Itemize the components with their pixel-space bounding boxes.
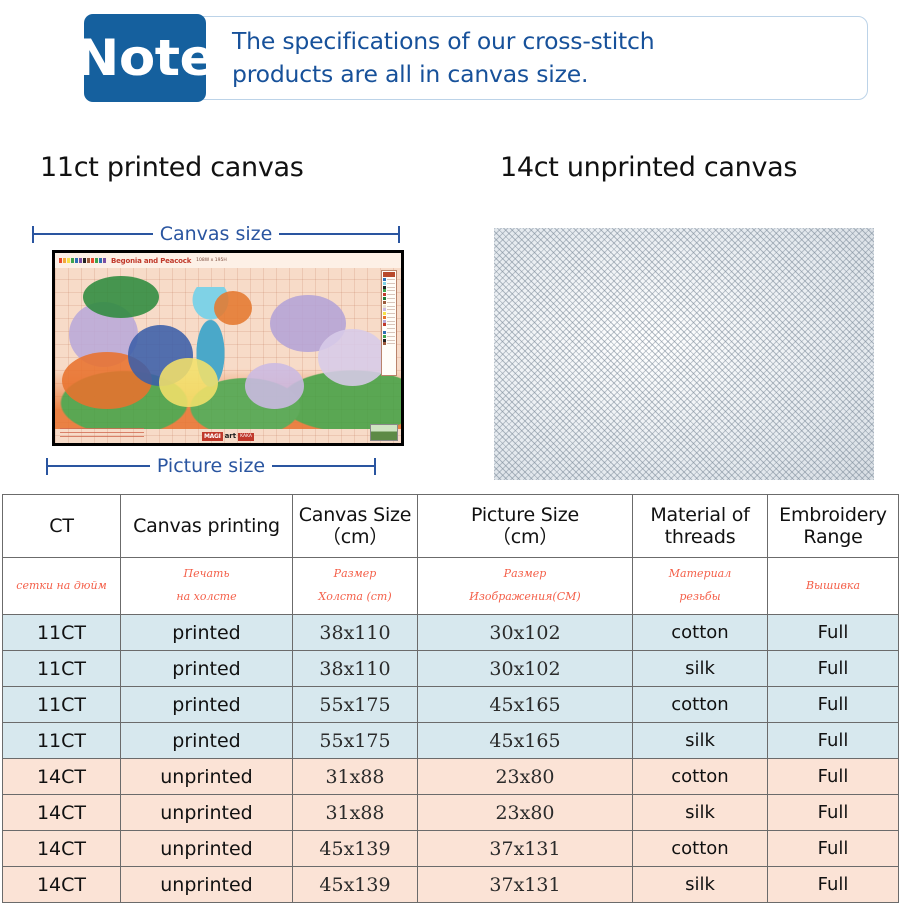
- legend-row: [383, 301, 395, 304]
- chart-color-swatch-row: [59, 258, 106, 263]
- legend-row: [383, 289, 395, 292]
- cell-canvas-printing: printed: [121, 687, 293, 723]
- legend-row: [383, 339, 395, 342]
- table-row: 11CTprinted38x11030x102cottonFull: [3, 615, 899, 651]
- cell-material: cotton: [633, 687, 768, 723]
- table-row: 14CTunprinted31x8823x80silkFull: [3, 795, 899, 831]
- column-subheader-ct-ru: сетки на дюйм: [3, 558, 121, 615]
- note-badge: Note: [84, 14, 206, 102]
- legend-row: [383, 297, 395, 300]
- ru-line-2: резьбы: [633, 586, 767, 609]
- legend-row: [383, 323, 395, 326]
- cell-picture-size: 30x102: [418, 615, 633, 651]
- header-line-1: Canvas Size: [293, 504, 417, 526]
- cell-canvas-printing: printed: [121, 651, 293, 687]
- cell-canvas-size: 38x110: [293, 615, 418, 651]
- bracket-cap-right: [398, 226, 400, 243]
- cell-material: cotton: [633, 759, 768, 795]
- cell-canvas-printing: unprinted: [121, 831, 293, 867]
- cell-ct: 14CT: [3, 759, 121, 795]
- cell-material: cotton: [633, 615, 768, 651]
- cell-canvas-size: 31x88: [293, 795, 418, 831]
- legend-header: [383, 272, 395, 277]
- cell-canvas-size: 45x139: [293, 867, 418, 903]
- header-line-1: CT: [3, 515, 120, 537]
- printed-canvas-chart-image: Begonia and Peacock 108W x 195H: [52, 250, 404, 446]
- table-row: 14CTunprinted31x8823x80cottonFull: [3, 759, 899, 795]
- header-line-2: （cm）: [418, 526, 632, 548]
- legend-row: [383, 342, 395, 345]
- column-header-embroidery-range: Embroidery Range: [768, 495, 899, 558]
- cell-ct: 11CT: [3, 687, 121, 723]
- picture-size-label: Picture size: [150, 457, 272, 476]
- cell-embroidery-range: Full: [768, 615, 899, 651]
- cell-material: silk: [633, 795, 768, 831]
- cell-ct: 11CT: [3, 723, 121, 759]
- legend-row: [383, 304, 395, 307]
- section-title-printed: 11ct printed canvas: [40, 152, 304, 183]
- cell-picture-size: 23x80: [418, 795, 633, 831]
- ru-line-1: Размер: [293, 563, 417, 586]
- ru-line-1: Размер: [418, 563, 632, 586]
- table-row: 14CTunprinted45x13937x131silkFull: [3, 867, 899, 903]
- column-header-material-of-threads: Material of threads: [633, 495, 768, 558]
- cell-canvas-printing: unprinted: [121, 795, 293, 831]
- legend-row: [383, 278, 395, 281]
- cell-embroidery-range: Full: [768, 795, 899, 831]
- column-subheader-canvas-printing-ru: Печать на холсте: [121, 558, 293, 615]
- printed-canvas-panel: Canvas size Begonia and Peacock 108W x 1…: [24, 222, 436, 480]
- cell-canvas-size: 55x175: [293, 687, 418, 723]
- header-line-1: Material of: [633, 504, 767, 526]
- chart-title: Begonia and Peacock: [111, 257, 191, 265]
- table-row: 14CTunprinted45x13937x131cottonFull: [3, 831, 899, 867]
- bracket-rule-left: [34, 233, 153, 235]
- cell-material: cotton: [633, 831, 768, 867]
- ru-line-2: Холста (cm): [293, 586, 417, 609]
- cell-canvas-printing: unprinted: [121, 759, 293, 795]
- bracket-rule-left: [48, 465, 150, 467]
- bracket-rule-right: [272, 465, 374, 467]
- ru-line-1: Печать: [121, 563, 292, 586]
- note-banner: Note The specifications of our cross-sti…: [84, 14, 868, 102]
- chart-color-legend: [381, 270, 397, 376]
- legend-row: [383, 282, 395, 285]
- cell-canvas-size: 55x175: [293, 723, 418, 759]
- table-row: 11CTprinted55x17545x165cottonFull: [3, 687, 899, 723]
- column-header-canvas-size: Canvas Size （cm）: [293, 495, 418, 558]
- legend-row: [383, 293, 395, 296]
- table-header-row-russian: сетки на дюйм Печать на холсте Размер Хо…: [3, 558, 899, 615]
- cell-ct: 14CT: [3, 831, 121, 867]
- header-line-1: Canvas printing: [121, 515, 292, 537]
- note-badge-label: Note: [75, 33, 215, 83]
- cell-embroidery-range: Full: [768, 651, 899, 687]
- table-header-row-english: CT Canvas printing Canvas Size （cm） Pict…: [3, 495, 899, 558]
- column-header-picture-size: Picture Size （cm）: [418, 495, 633, 558]
- cell-ct: 11CT: [3, 651, 121, 687]
- cell-embroidery-range: Full: [768, 759, 899, 795]
- chart-artwork-blob: [159, 358, 218, 407]
- cell-picture-size: 23x80: [418, 759, 633, 795]
- header-line-2: threads: [633, 526, 767, 548]
- legend-row: [383, 308, 395, 311]
- cell-material: silk: [633, 723, 768, 759]
- ru-line-2: Изображения(CM): [418, 586, 632, 609]
- ru-line-1: Материал: [633, 563, 767, 586]
- brand-sub: KAKA: [238, 433, 254, 441]
- picture-size-dimension-bracket: Picture size: [46, 454, 376, 478]
- ru-line-1: Вышивка: [768, 575, 898, 598]
- cell-canvas-printing: printed: [121, 615, 293, 651]
- cell-picture-size: 37x131: [418, 831, 633, 867]
- chart-artwork-blob: [83, 276, 159, 318]
- cell-embroidery-range: Full: [768, 831, 899, 867]
- cell-canvas-size: 38x110: [293, 651, 418, 687]
- unprinted-canvas-swatch-image: [494, 228, 874, 480]
- note-text: The specifications of our cross-stitch p…: [232, 20, 846, 96]
- legend-row: [383, 331, 395, 334]
- chart-dimensions-label: 108W x 195H: [196, 258, 227, 263]
- cell-material: silk: [633, 867, 768, 903]
- header-line-2: （cm）: [293, 526, 417, 548]
- legend-row: [383, 312, 395, 315]
- legend-row: [383, 286, 395, 289]
- note-text-line-2: products are all in canvas size.: [232, 58, 846, 91]
- cell-picture-size: 37x131: [418, 867, 633, 903]
- chart-brand-logo: MAGI art KAKA: [202, 432, 254, 441]
- cell-embroidery-range: Full: [768, 867, 899, 903]
- specification-table: CT Canvas printing Canvas Size （cm） Pict…: [2, 494, 899, 903]
- note-text-line-1: The specifications of our cross-stitch: [232, 25, 846, 58]
- column-subheader-material-ru: Материал резьбы: [633, 558, 768, 615]
- cell-canvas-size: 31x88: [293, 759, 418, 795]
- header-line-2: Range: [768, 526, 898, 548]
- bracket-rule-right: [279, 233, 398, 235]
- chart-preview-thumbnail: [370, 424, 398, 441]
- canvas-size-label: Canvas size: [153, 225, 280, 244]
- table-row: 11CTprinted55x17545x165silkFull: [3, 723, 899, 759]
- column-subheader-embroidery-ru: Вышивка: [768, 558, 899, 615]
- brand-mark: MAGI: [202, 432, 223, 441]
- specification-table-body: 11CTprinted38x11030x102cottonFull11CTpri…: [3, 615, 899, 903]
- cell-picture-size: 45x165: [418, 723, 633, 759]
- cell-material: silk: [633, 651, 768, 687]
- column-subheader-picture-size-ru: Размер Изображения(CM): [418, 558, 633, 615]
- ru-line-2: на холсте: [121, 586, 292, 609]
- chart-header-strip: Begonia and Peacock 108W x 195H: [55, 253, 401, 268]
- legend-row: [383, 335, 395, 338]
- bracket-cap-right: [374, 458, 376, 475]
- header-line-1: Embroidery: [768, 504, 898, 526]
- chart-artwork-blob: [245, 363, 304, 409]
- legend-row: [383, 320, 395, 323]
- brand-word: art: [225, 432, 237, 441]
- cell-ct: 11CT: [3, 615, 121, 651]
- column-header-ct: CT: [3, 495, 121, 558]
- header-line-1: Picture Size: [418, 504, 632, 526]
- table-row: 11CTprinted38x11030x102silkFull: [3, 651, 899, 687]
- canvas-size-dimension-bracket: Canvas size: [32, 222, 400, 246]
- chart-footnote-text: [60, 428, 144, 440]
- chart-artwork-blob: [318, 329, 387, 386]
- cell-embroidery-range: Full: [768, 687, 899, 723]
- column-subheader-canvas-size-ru: Размер Холста (cm): [293, 558, 418, 615]
- cell-embroidery-range: Full: [768, 723, 899, 759]
- cell-canvas-printing: unprinted: [121, 867, 293, 903]
- section-title-unprinted: 14ct unprinted canvas: [500, 152, 797, 183]
- cell-ct: 14CT: [3, 867, 121, 903]
- legend-row: [383, 316, 395, 319]
- legend-row: [383, 327, 395, 330]
- cell-canvas-size: 45x139: [293, 831, 418, 867]
- cell-canvas-printing: printed: [121, 723, 293, 759]
- ru-line-1: сетки на дюйм: [3, 575, 120, 598]
- cell-ct: 14CT: [3, 795, 121, 831]
- cell-picture-size: 45x165: [418, 687, 633, 723]
- cell-picture-size: 30x102: [418, 651, 633, 687]
- column-header-canvas-printing: Canvas printing: [121, 495, 293, 558]
